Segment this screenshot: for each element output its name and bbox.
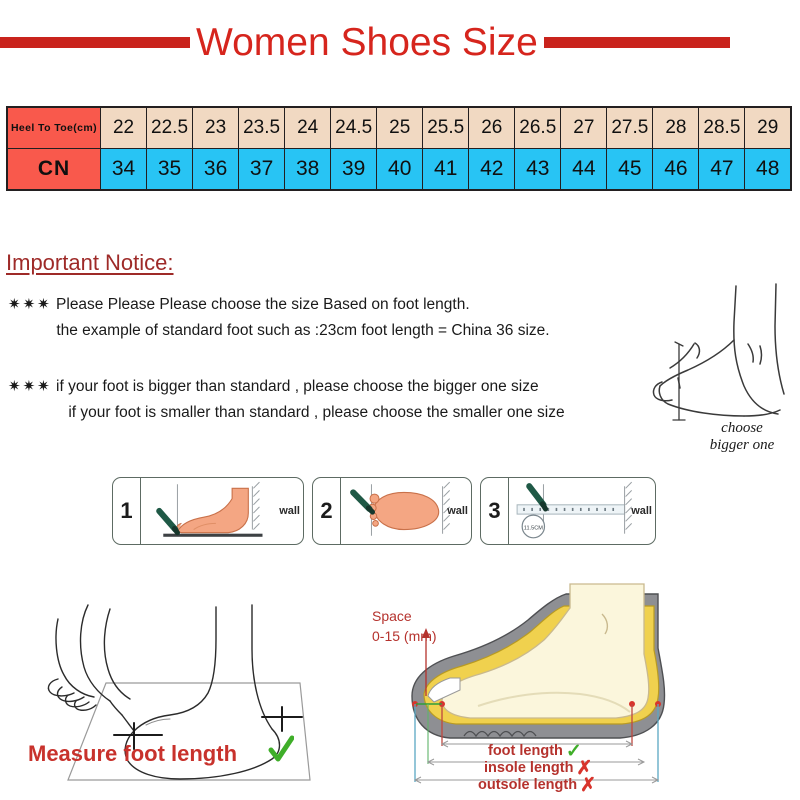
notice-heading: Important Notice: (6, 250, 174, 276)
cell-cm-10: 27 (561, 107, 607, 149)
step-number-1: 1 (113, 478, 141, 544)
check-icon (268, 735, 294, 765)
cell-cn-6: 40 (377, 149, 423, 191)
notice-text: Please Please Please choose the size Bas… (56, 296, 470, 313)
space-callout-label: Space 0-15 (mm) (372, 606, 437, 646)
cell-cn-14: 48 (745, 149, 791, 191)
title-rule-left (0, 37, 190, 48)
wall-label-2: wall (447, 505, 468, 517)
step-2-illustration: wall (341, 478, 471, 544)
row-header-heel-to-toe: Heel To Toe(cm) (7, 107, 101, 149)
cell-cm-1: 22.5 (147, 107, 193, 149)
page-title: Women Shoes Size (190, 23, 544, 62)
step-panel-1: 1 (112, 477, 304, 545)
measure-steps: 1 (112, 477, 656, 545)
size-chart-table: Heel To Toe(cm) 22 22.5 23 23.5 24 24.5 … (6, 106, 792, 191)
cell-cn-5: 39 (331, 149, 377, 191)
step-3-illustration: 11.5CM wall (509, 478, 655, 544)
cell-cn-1: 35 (147, 149, 193, 191)
measure-label-outsole-length: outsole length✗ (478, 774, 596, 797)
cell-cn-10: 44 (561, 149, 607, 191)
cell-cm-6: 25 (377, 107, 423, 149)
choose-bigger-caption: choose bigger one (692, 420, 792, 454)
wall-label-3: wall (631, 505, 652, 517)
cell-cn-7: 41 (423, 149, 469, 191)
cell-cm-4: 24 (285, 107, 331, 149)
measure-foot-label: Measure foot length (28, 741, 237, 767)
ruler-badge-text: 11.5CM (524, 526, 543, 532)
notice-block-2-line-2: if your foot is smaller than standard , … (8, 400, 565, 426)
choose-bigger-line-1: choose (692, 420, 792, 437)
step-1-illustration: wall (141, 478, 303, 544)
cell-cn-12: 46 (653, 149, 699, 191)
notice-block-1-line-2: the example of standard foot such as :23… (8, 318, 550, 344)
row-header-cn: CN (7, 149, 101, 191)
cell-cm-7: 25.5 (423, 107, 469, 149)
space-label-line-2: 0-15 (mm) (372, 626, 437, 646)
cell-cm-5: 24.5 (331, 107, 377, 149)
wall-label-1: wall (279, 505, 300, 517)
cell-cm-3: 23.5 (239, 107, 285, 149)
cell-cn-0: 34 (101, 149, 147, 191)
notice-block-1: ✷✷✷ Please Please Please choose the size… (8, 292, 550, 344)
table-row-cn: CN 34 35 36 37 38 39 40 41 42 43 44 45 4… (7, 149, 791, 191)
cell-cm-11: 27.5 (607, 107, 653, 149)
notice-block-2: ✷✷✷ if your foot is bigger than standard… (8, 374, 565, 426)
step-number-3: 3 (481, 478, 509, 544)
step-panel-2: 2 (312, 477, 472, 545)
cell-cn-11: 45 (607, 149, 653, 191)
cell-cm-13: 28.5 (699, 107, 745, 149)
cell-cm-2: 23 (193, 107, 239, 149)
cell-cn-8: 42 (469, 149, 515, 191)
cell-cn-13: 47 (699, 149, 745, 191)
choose-bigger-line-2: bigger one (692, 437, 792, 454)
cell-cn-9: 43 (515, 149, 561, 191)
asterisk-marker: ✷✷✷ (8, 378, 52, 395)
cell-cm-12: 28 (653, 107, 699, 149)
cell-cm-9: 26.5 (515, 107, 561, 149)
cell-cn-2: 36 (193, 149, 239, 191)
cell-cn-4: 38 (285, 149, 331, 191)
page-title-bar: Women Shoes Size (0, 16, 800, 68)
cell-cm-8: 26 (469, 107, 515, 149)
cell-cm-0: 22 (101, 107, 147, 149)
step-panel-3: 3 11.5CM (480, 477, 656, 545)
notice-block-2-line-1: ✷✷✷ if your foot is bigger than standard… (8, 374, 565, 400)
step-number-2: 2 (313, 478, 341, 544)
space-label-line-1: Space (372, 606, 437, 626)
table-row-heel-to-toe: Heel To Toe(cm) 22 22.5 23 23.5 24 24.5 … (7, 107, 791, 149)
notice-block-1-line-1: ✷✷✷ Please Please Please choose the size… (8, 292, 550, 318)
measure-label-text: outsole length (478, 777, 577, 793)
cell-cn-3: 37 (239, 149, 285, 191)
cross-icon: ✗ (580, 774, 596, 797)
cell-cm-14: 29 (745, 107, 791, 149)
notice-text: if your foot is smaller than standard , … (68, 404, 564, 421)
title-rule-right (544, 37, 730, 48)
notice-text: the example of standard foot such as :23… (56, 322, 549, 339)
notice-text: if your foot is bigger than standard , p… (56, 378, 539, 395)
asterisk-marker: ✷✷✷ (8, 296, 52, 313)
